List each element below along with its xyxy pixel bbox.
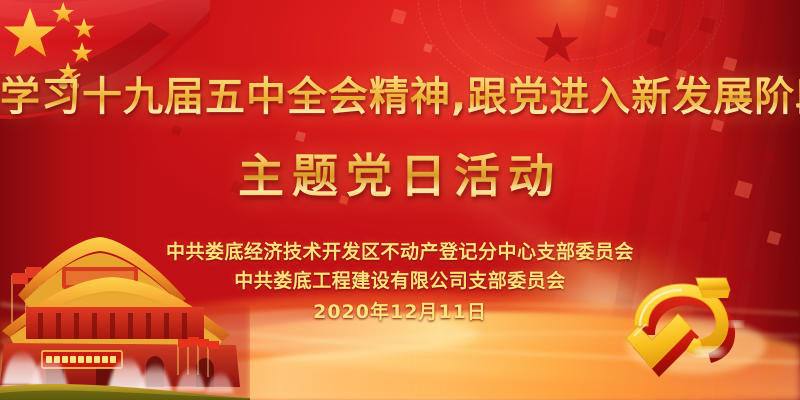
party-event-banner: “ ” 学习十九届五中全会精神,跟党进入新发展阶段 主题党日活动 中共娄底经济技… [0, 0, 800, 400]
event-date: 2020年12月11日 [0, 297, 800, 324]
organization-line-1: 中共娄底经济技术开发区不动产登记分中心支部委员会 [0, 237, 800, 264]
banner-text-block: “ ” 学习十九届五中全会精神,跟党进入新发展阶段 主题党日活动 中共娄底经济技… [0, 0, 800, 400]
main-title: 学习十九届五中全会精神,跟党进入新发展阶段 [0, 64, 800, 122]
sub-title: 主题党日活动 [0, 140, 800, 206]
organization-line-2: 中共娄底工程建设有限公司支部委员会 [0, 266, 800, 293]
